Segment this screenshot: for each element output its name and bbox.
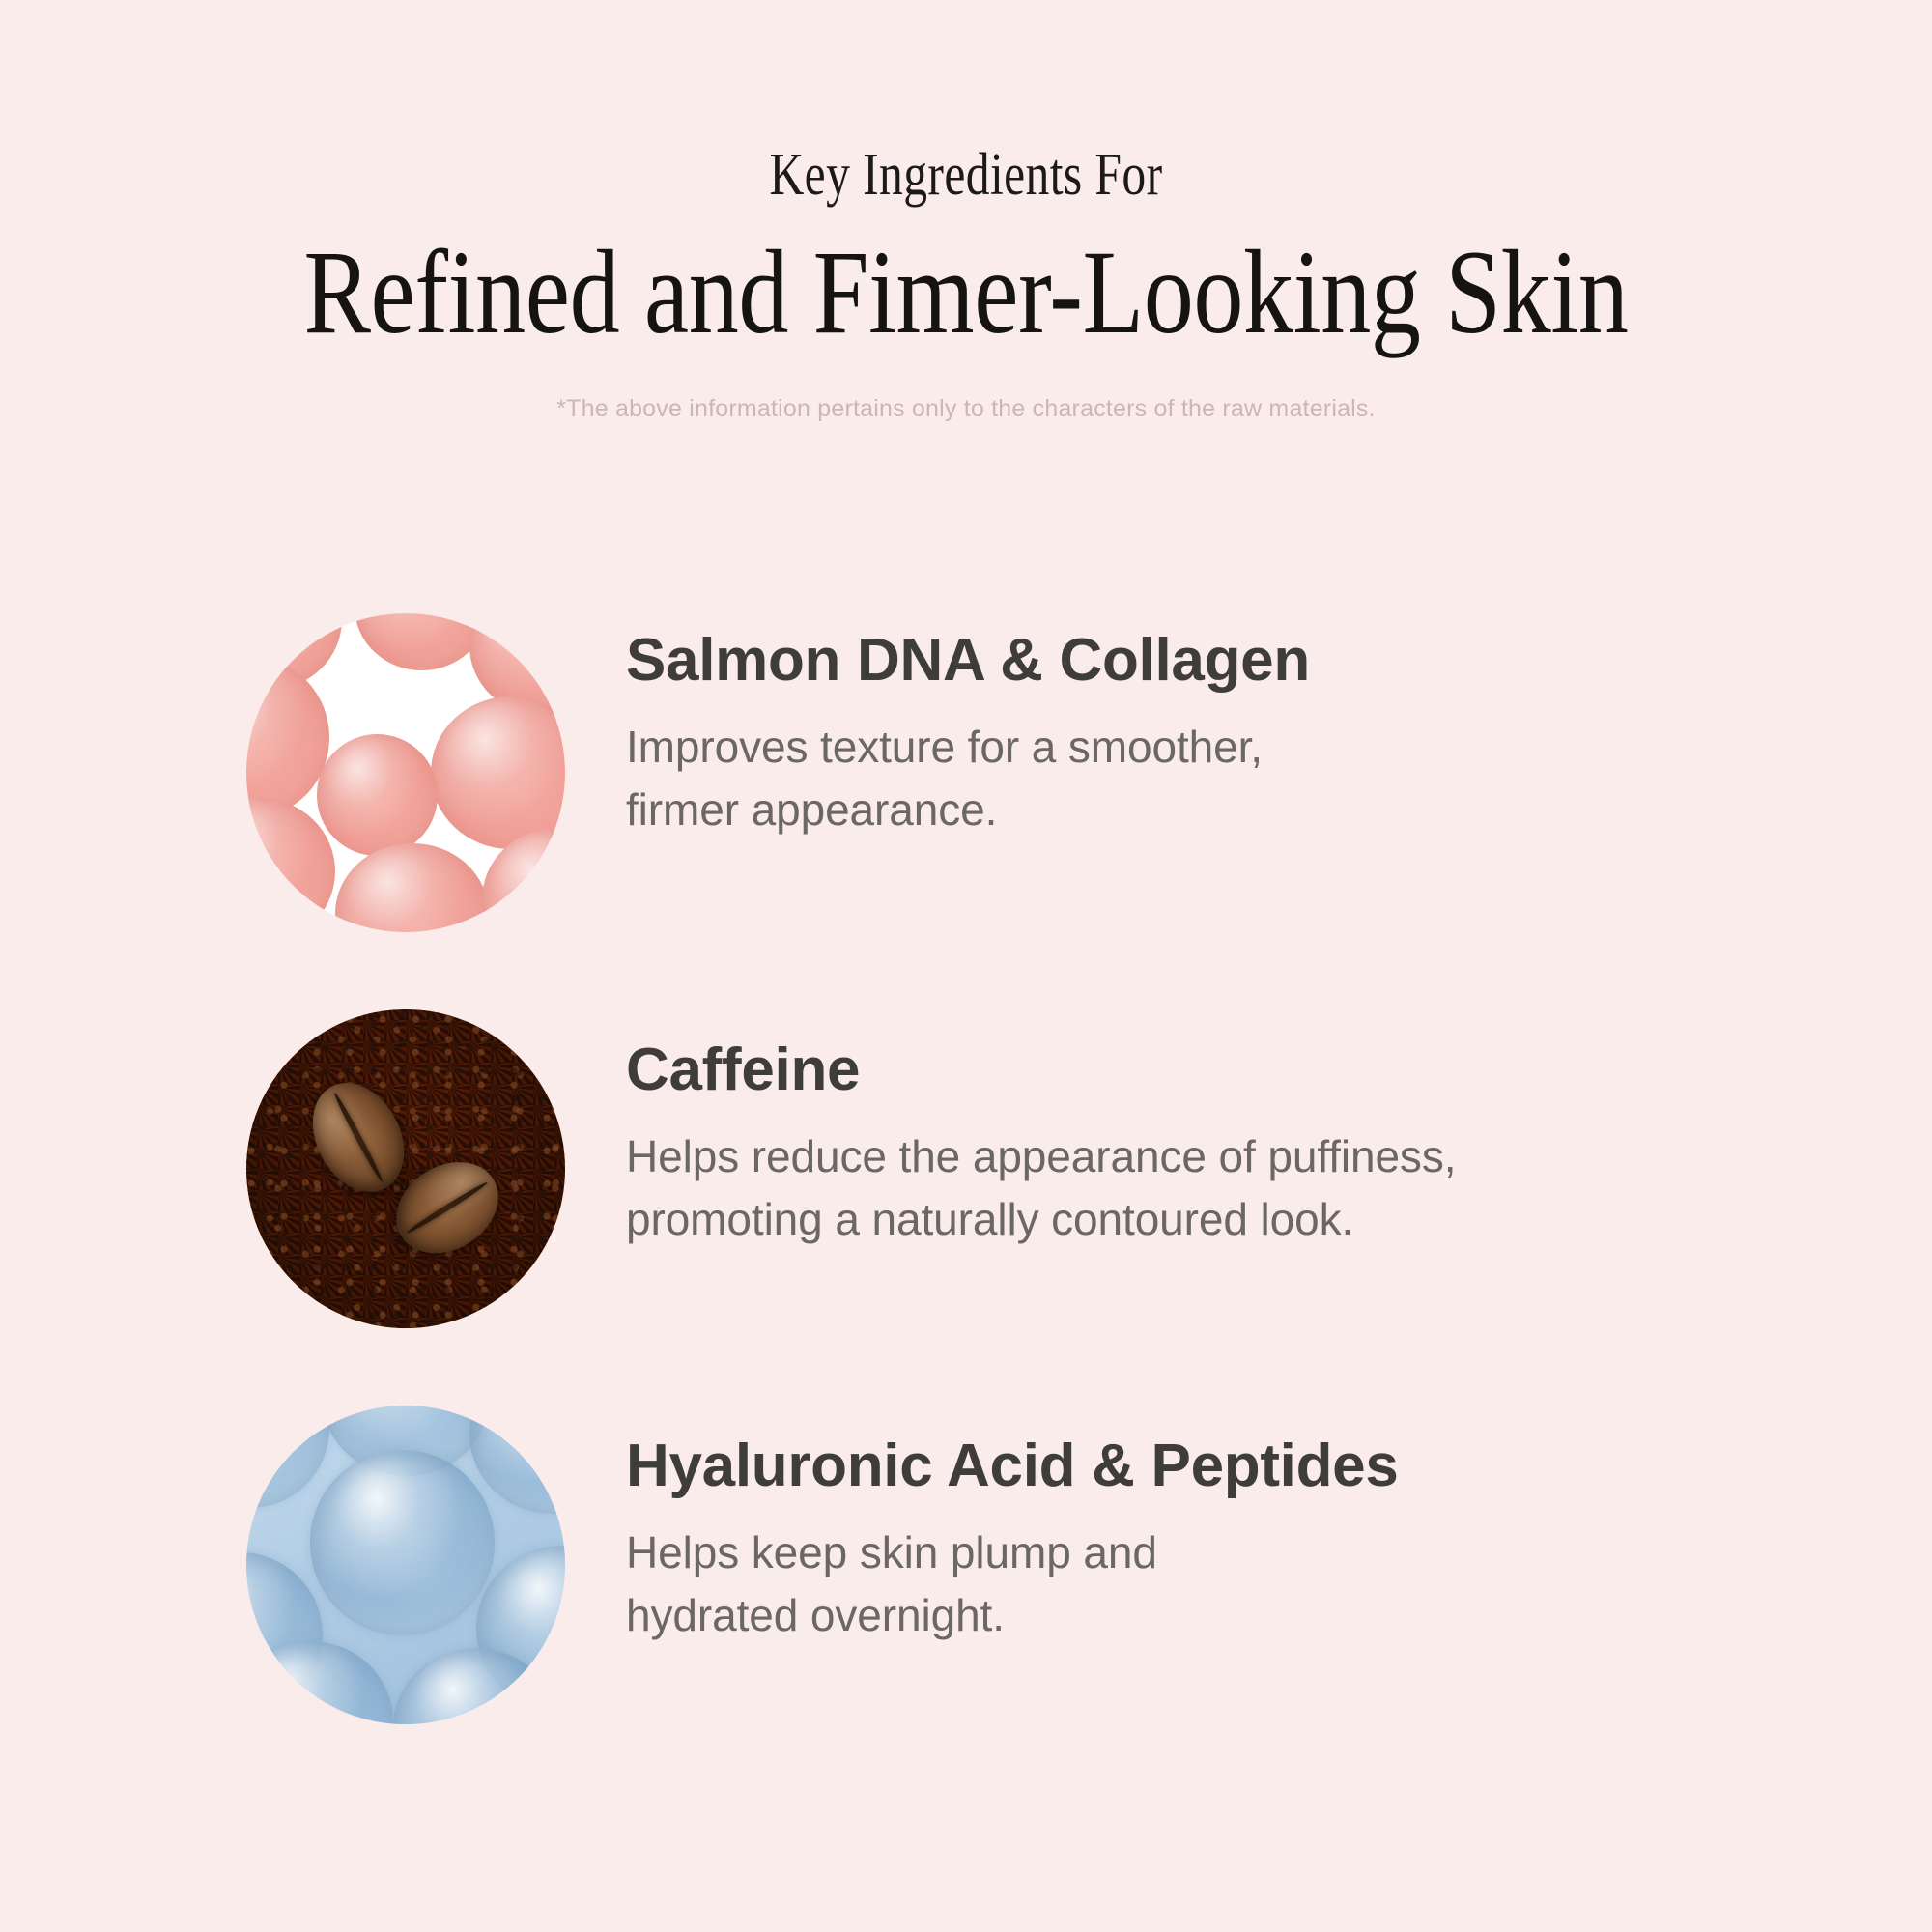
ingredient-title: Hyaluronic Acid & Peptides [626, 1436, 1853, 1496]
ingredient-text-block: Caffeine Helps reduce the appearance of … [626, 1040, 1853, 1252]
ingredient-item-hyaluronic-acid-peptides: Hyaluronic Acid & Peptides Helps keep sk… [0, 1386, 1932, 1782]
pink-capsules-thumbnail [246, 613, 565, 932]
coffee-grounds-speckles [246, 1009, 565, 1328]
ingredient-description-line: firmer appearance. [626, 779, 1853, 841]
ingredient-description-line: Helps keep skin plump and [626, 1521, 1853, 1584]
ingredient-text-block: Salmon DNA & Collagen Improves texture f… [626, 631, 1853, 842]
eyebrow-text: Key Ingredients For [193, 145, 1739, 205]
ingredient-description-line: promoting a naturally contoured look. [626, 1188, 1853, 1251]
ingredient-description-line: hydrated overnight. [626, 1584, 1853, 1647]
blue-spheres-photo [246, 1406, 565, 1724]
page-title: Refined and Fimer-Looking Skin [155, 228, 1777, 357]
ingredient-list: Salmon DNA & Collagen Improves texture f… [0, 594, 1932, 1782]
ingredient-description: Improves texture for a smoother, firmer … [626, 716, 1853, 842]
coffee-thumbnail [246, 1009, 565, 1328]
ingredient-description: Helps reduce the appearance of puffiness… [626, 1125, 1853, 1252]
ingredient-title: Caffeine [626, 1040, 1853, 1100]
ingredient-text-block: Hyaluronic Acid & Peptides Helps keep sk… [626, 1436, 1853, 1648]
ingredient-item-salmon-dna-collagen: Salmon DNA & Collagen Improves texture f… [0, 594, 1932, 990]
ingredient-item-caffeine: Caffeine Helps reduce the appearance of … [0, 990, 1932, 1386]
ingredient-description: Helps keep skin plump and hydrated overn… [626, 1521, 1853, 1648]
ingredient-description-line: Improves texture for a smoother, [626, 716, 1853, 779]
ingredient-title: Salmon DNA & Collagen [626, 631, 1853, 691]
ingredient-description-line: Helps reduce the appearance of puffiness… [626, 1125, 1853, 1188]
pink-capsules-photo [246, 613, 565, 932]
disclaimer-note: *The above information pertains only to … [0, 394, 1932, 423]
coffee-grounds-beans-photo [246, 1009, 565, 1328]
blue-spheres-thumbnail [246, 1406, 565, 1724]
page-header: Key Ingredients For Refined and Fimer-Lo… [0, 0, 1932, 423]
